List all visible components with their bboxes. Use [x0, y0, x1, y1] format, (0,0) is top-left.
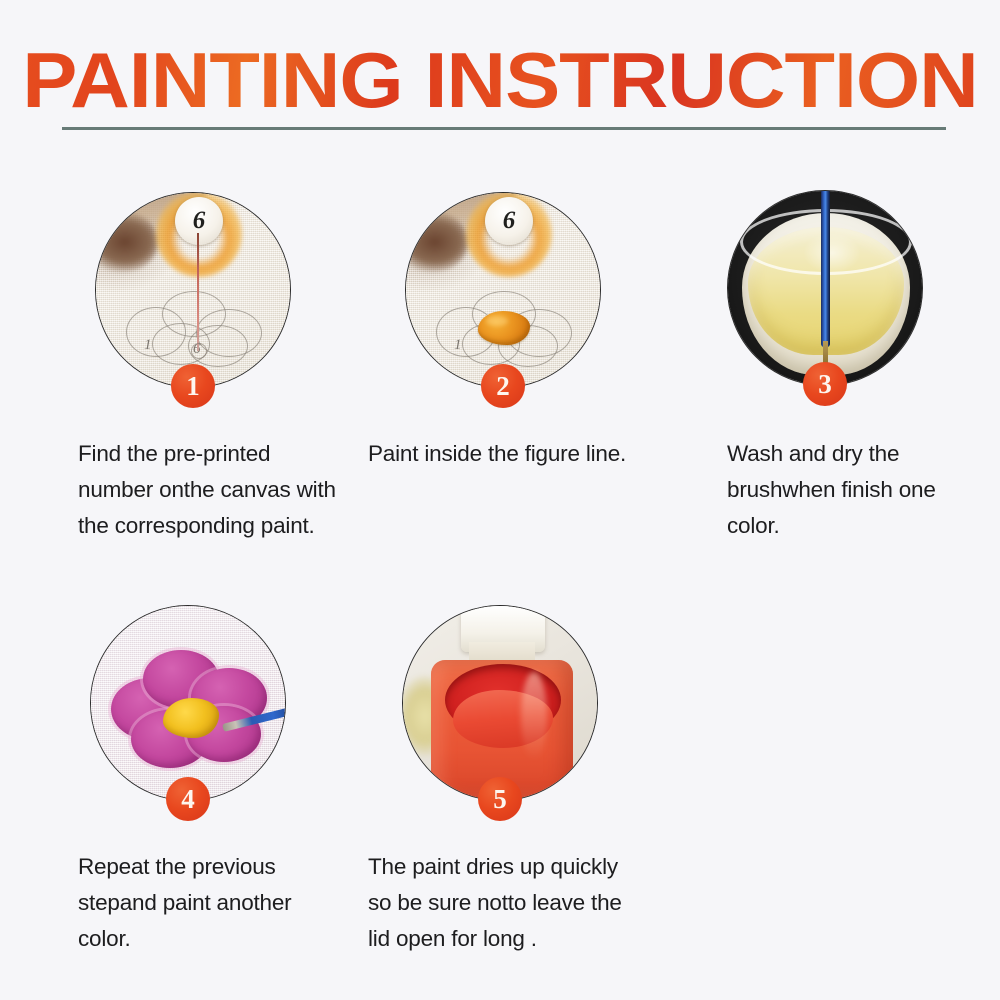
step-card-1: 1 6 6 1 Find the pre-printed number onth…: [95, 192, 291, 388]
step-card-3: 3 Wash and dry the brushwhen finish one …: [727, 190, 923, 386]
paint-pot: 6: [156, 192, 242, 277]
paint-pot: 6: [466, 192, 552, 277]
canvas-with-numbered-paint-pot-photo: 1 6 6: [95, 192, 291, 388]
step-caption-3: Wash and dry the brushwhen finish one co…: [727, 436, 957, 544]
flower-yellow-center: [163, 698, 219, 738]
step-3-photo-wrap: 3: [727, 190, 923, 386]
step-badge-3: 3: [803, 362, 847, 406]
step-card-5: 5 The paint dries up quickly so be sure …: [402, 605, 598, 801]
step-caption-4: Repeat the previous stepand paint anothe…: [78, 849, 338, 957]
brush-rinsing-in-water-cup-photo: [727, 190, 923, 386]
blue-brush-handle: [821, 190, 830, 347]
paint-pot-lid: 6: [485, 197, 533, 245]
applied-paint-blob: [478, 311, 530, 345]
step-card-2: 1 6 2 Paint inside the figure line.: [405, 192, 601, 388]
step-badge-5: 5: [478, 777, 522, 821]
canvas-number-1: 1: [454, 337, 462, 354]
step-caption-2: Paint inside the figure line.: [368, 436, 668, 472]
step-badge-4: 4: [166, 777, 210, 821]
paint-pot-lid: 6: [175, 197, 223, 245]
step-2-photo-wrap: 1 6 2: [405, 192, 601, 388]
steps-grid: 1 6 6 1 Find the pre-printed number onth…: [0, 150, 1000, 1000]
page-title: PAINTING INSTRUCTION: [0, 40, 1000, 120]
step-5-photo-wrap: 5: [402, 605, 598, 801]
match-pointer-line: [197, 233, 199, 351]
step-badge-2: 2: [481, 364, 525, 408]
canvas-number-1: 1: [144, 337, 152, 354]
pink-flower-painted-on-canvas-photo: [90, 605, 286, 801]
match-pointer-target: [191, 343, 207, 359]
pot-highlight: [521, 672, 547, 760]
title-underline-divider: [62, 127, 946, 130]
page-header: PAINTING INSTRUCTION: [0, 0, 1000, 150]
canvas-with-orange-paint-applied-photo: 1 6: [405, 192, 601, 388]
step-4-photo-wrap: 4: [90, 605, 286, 801]
step-1-photo-wrap: 1 6 6 1: [95, 192, 291, 388]
paint-pot-number-label: 6: [175, 197, 223, 245]
step-badge-1: 1: [171, 364, 215, 408]
paint-pot-number-label: 6: [485, 197, 533, 245]
step-caption-1: Find the pre-printed number onthe canvas…: [78, 436, 343, 544]
open-red-paint-pot-photo: [402, 605, 598, 801]
step-caption-5: The paint dries up quickly so be sure no…: [368, 849, 643, 957]
step-card-4: 4 Repeat the previous stepand paint anot…: [90, 605, 286, 801]
